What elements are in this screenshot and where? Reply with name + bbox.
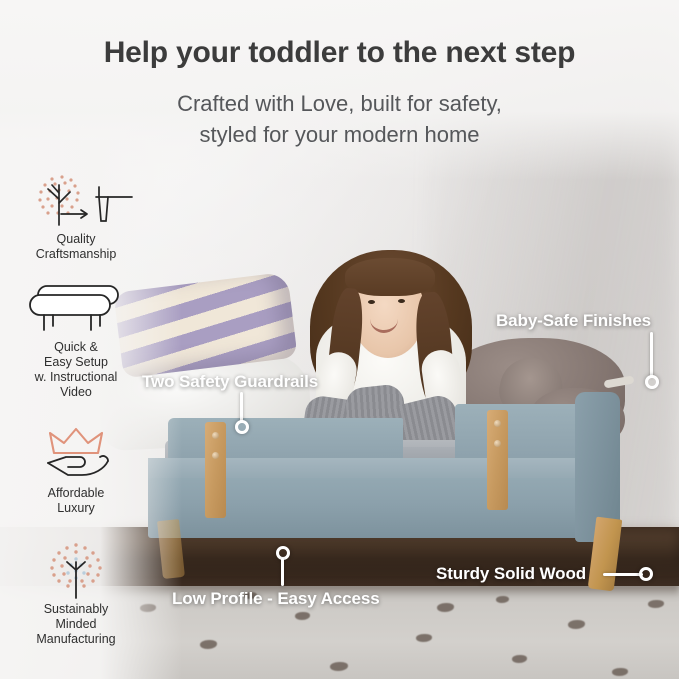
blossom-tree-icon xyxy=(0,540,152,602)
guardrail-bracket-right xyxy=(487,410,508,510)
feature-quality-craftsmanship: Quality Craftsmanship xyxy=(0,170,152,262)
callout-label: Two Safety Guardrails xyxy=(142,372,318,392)
feature-label: Quick & Easy Setup w. Instructional Vide… xyxy=(0,340,152,400)
feature-label: Quality Craftsmanship xyxy=(0,232,152,262)
feature-quick-easy-setup: Quick & Easy Setup w. Instructional Vide… xyxy=(0,278,152,400)
bed-frame-icon xyxy=(0,278,152,340)
feature-label-line: Sustainably xyxy=(0,602,152,617)
feature-label-line: Easy Setup xyxy=(0,355,152,370)
callout-ring-marker xyxy=(235,420,249,434)
feature-label-line: Craftsmanship xyxy=(0,247,152,262)
callout-ring-marker xyxy=(639,567,653,581)
feature-label-line: Minded xyxy=(0,617,152,632)
callout-ring-marker xyxy=(645,375,659,389)
page-title: Help your toddler to the next step xyxy=(0,36,679,70)
feature-label: Sustainably Minded Manufacturing xyxy=(0,602,152,647)
feature-label-line: Video xyxy=(0,385,152,400)
callout-leader-line xyxy=(603,573,643,576)
callout-leader-line xyxy=(240,392,243,422)
callout-label: Low Profile - Easy Access xyxy=(172,589,380,609)
feature-label-line: Manufacturing xyxy=(0,632,152,647)
product-feature-graphic: Help your toddler to the next step Craft… xyxy=(0,0,679,679)
guardrail-bracket-left xyxy=(205,422,226,518)
crown-in-hand-icon xyxy=(0,424,152,486)
feature-label-line: Luxury xyxy=(0,501,152,516)
feature-label-line: Affordable xyxy=(0,486,152,501)
child-bangs xyxy=(345,258,435,296)
feature-label: Affordable Luxury xyxy=(0,486,152,516)
subtitle-line-1: Crafted with Love, built for safety, xyxy=(0,88,679,119)
feature-sustainably-minded: Sustainably Minded Manufacturing xyxy=(0,540,152,647)
callout-label: Baby-Safe Finishes xyxy=(496,311,651,331)
callout-leader-line xyxy=(281,558,284,586)
tree-to-table-icon xyxy=(0,170,152,232)
callout-label: Sturdy Solid Wood xyxy=(436,564,586,584)
feature-label-line: Quality xyxy=(0,232,152,247)
feature-label-line: Quick & xyxy=(0,340,152,355)
callout-leader-line xyxy=(650,332,653,378)
feature-affordable-luxury: Affordable Luxury xyxy=(0,424,152,516)
feature-label-line: w. Instructional xyxy=(0,370,152,385)
